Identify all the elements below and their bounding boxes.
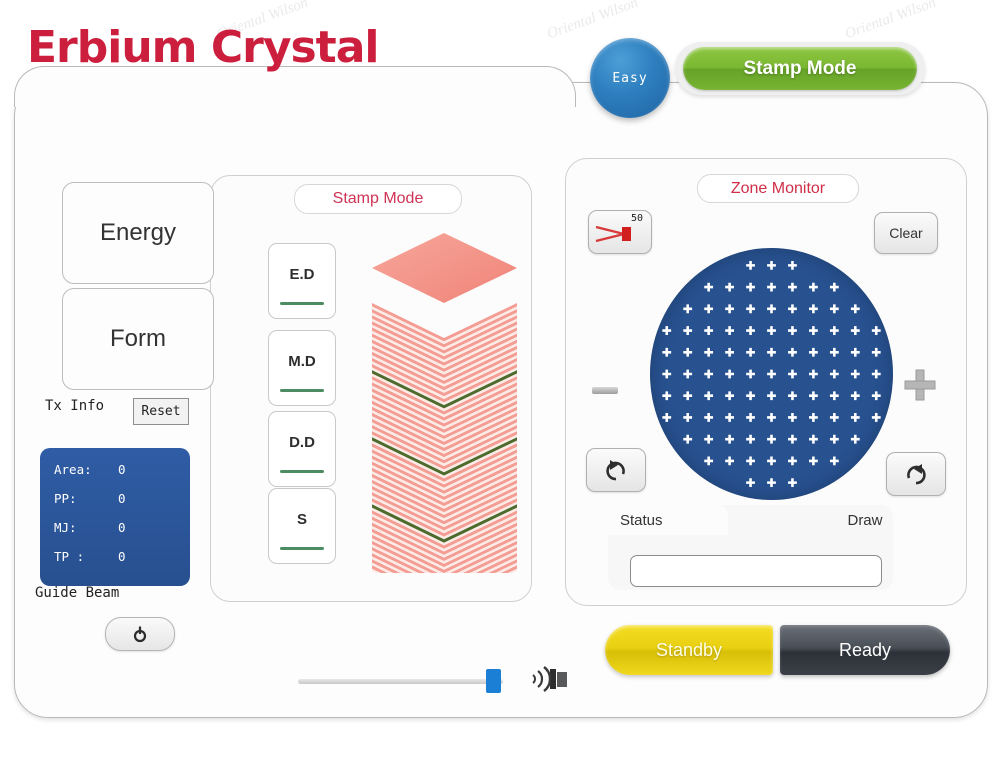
mode-button-ed-label: E.D bbox=[269, 266, 335, 283]
rotate-clockwise-button[interactable] bbox=[886, 452, 946, 496]
ready-label: Ready bbox=[839, 640, 891, 661]
tx-info-row: MJ: 0 bbox=[40, 514, 190, 543]
mode-button-indicator bbox=[280, 470, 324, 474]
tx-info-key: TP : bbox=[54, 549, 84, 564]
volume-slider-thumb[interactable] bbox=[486, 669, 501, 693]
tx-info-value: 0 bbox=[118, 549, 126, 564]
tx-info-value: 0 bbox=[118, 491, 126, 506]
standby-label: Standby bbox=[656, 640, 722, 661]
standby-button[interactable]: Standby bbox=[605, 625, 773, 675]
mode-button-s[interactable]: S bbox=[268, 488, 336, 564]
mode-button-dd-label: D.D bbox=[269, 434, 335, 451]
stamp-mode-title: Stamp Mode bbox=[294, 184, 462, 214]
clear-button-label: Clear bbox=[889, 225, 922, 241]
easy-label: Easy bbox=[612, 71, 647, 86]
tissue-layer-stack-illustration bbox=[367, 228, 522, 573]
tx-info-key: PP: bbox=[54, 491, 77, 506]
tab-form[interactable]: Form bbox=[62, 288, 214, 390]
volume-slider-track[interactable] bbox=[298, 679, 503, 684]
mode-button-s-label: S bbox=[269, 511, 335, 528]
mode-button-md[interactable]: M.D bbox=[268, 330, 336, 406]
mode-button-ed[interactable]: E.D bbox=[268, 243, 336, 319]
mode-button-dd[interactable]: D.D bbox=[268, 411, 336, 487]
zone-monitor-title: Zone Monitor bbox=[697, 174, 859, 203]
stamp-mode-label: Stamp Mode bbox=[744, 58, 857, 80]
plus-icon[interactable] bbox=[903, 368, 937, 402]
tab-draw[interactable]: Draw bbox=[830, 506, 900, 534]
tab-form-label: Form bbox=[110, 325, 166, 353]
tab-status[interactable]: Status bbox=[608, 505, 728, 535]
shell-seam-mask bbox=[18, 96, 570, 110]
mode-button-md-label: M.D bbox=[269, 353, 335, 370]
minus-icon[interactable] bbox=[592, 387, 618, 394]
zone-monitor-grid[interactable] bbox=[650, 248, 893, 500]
spot-size-button[interactable]: 50 bbox=[588, 210, 652, 254]
reset-button-label: Reset bbox=[141, 404, 180, 419]
zone-monitor-title-label: Zone Monitor bbox=[731, 180, 825, 198]
tx-info-value: 0 bbox=[118, 520, 126, 535]
stamp-mode-button-wrap: Stamp Mode bbox=[675, 42, 925, 95]
guide-beam-label: Guide Beam bbox=[35, 585, 119, 601]
tab-energy[interactable]: Energy bbox=[62, 182, 214, 284]
tab-energy-label: Energy bbox=[100, 219, 176, 247]
laser-beam-icon bbox=[594, 221, 638, 249]
tx-info-panel: Area: 0 PP: 0 MJ: 0 TP : 0 bbox=[40, 448, 190, 586]
ready-button[interactable]: Ready bbox=[780, 625, 950, 675]
tab-status-label: Status bbox=[620, 512, 663, 529]
guide-beam-power-button[interactable] bbox=[105, 617, 175, 651]
page-title: Erbium Crystal bbox=[27, 22, 379, 73]
tab-draw-label: Draw bbox=[847, 512, 882, 529]
power-icon bbox=[132, 625, 148, 643]
tx-info-value: 0 bbox=[118, 462, 126, 477]
easy-mode-button[interactable]: Easy bbox=[590, 38, 670, 118]
tx-info-key: MJ: bbox=[54, 520, 77, 535]
rotate-counterclockwise-button[interactable] bbox=[586, 448, 646, 492]
tx-info-label: Tx Info bbox=[45, 398, 104, 414]
stamp-mode-button[interactable]: Stamp Mode bbox=[683, 47, 917, 90]
clear-button[interactable]: Clear bbox=[874, 212, 938, 254]
reset-button[interactable]: Reset bbox=[133, 398, 189, 425]
mode-button-indicator bbox=[280, 302, 324, 306]
rotate-ccw-icon bbox=[603, 457, 629, 483]
speaker-icon[interactable] bbox=[528, 662, 570, 696]
status-input[interactable] bbox=[630, 555, 882, 587]
mode-button-indicator bbox=[280, 389, 324, 393]
mode-button-indicator bbox=[280, 547, 324, 551]
tx-info-row: TP : 0 bbox=[40, 543, 190, 572]
tx-info-row: Area: 0 bbox=[40, 456, 190, 485]
rotate-cw-icon bbox=[903, 461, 929, 487]
stamp-mode-title-label: Stamp Mode bbox=[333, 190, 424, 208]
tx-info-row: PP: 0 bbox=[40, 485, 190, 514]
tx-info-key: Area: bbox=[54, 462, 92, 477]
